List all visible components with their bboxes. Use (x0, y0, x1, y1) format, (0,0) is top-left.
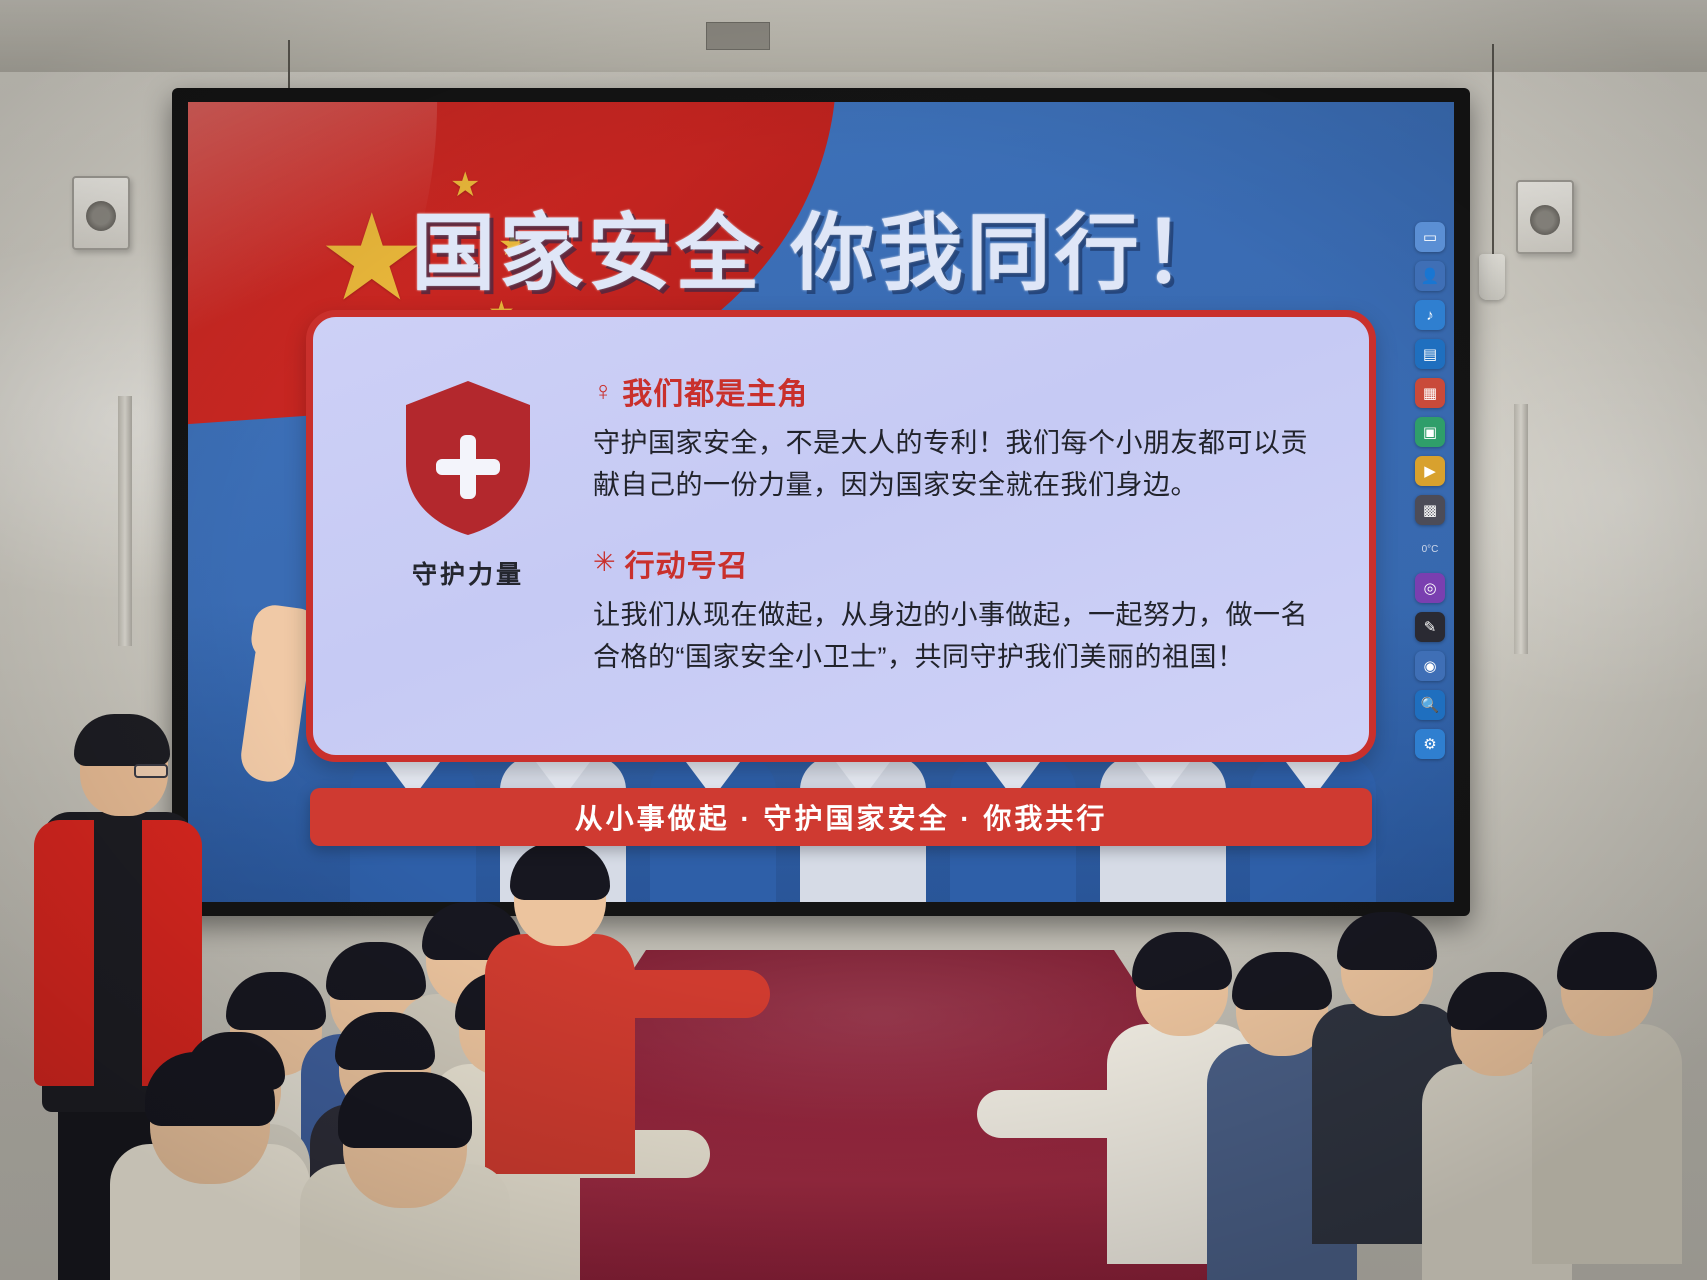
section-heading-1: ♀ 我们都是主角 (593, 369, 1329, 413)
ceiling-junction-box (706, 22, 770, 50)
search-icon[interactable]: 🔍 (1415, 690, 1445, 720)
section-body-2: 让我们从现在做起，从身边的小事做起，一起努力，做一名合格的“国家安全小卫士”，共… (593, 595, 1329, 679)
whiteboard-toolbar[interactable]: ▭ 👤 ♪ ▤ ▦ ▣ ▶ ▩ 0°C ◎ ✎ ◉ 🔍 ⚙ (1410, 222, 1450, 759)
image-icon[interactable]: ▣ (1415, 417, 1445, 447)
temperature-reading: 0°C (1415, 534, 1445, 564)
slide-footer-banner-text: 从小事做起 · 守护国家安全 · 你我共行 (575, 797, 1108, 837)
video-icon[interactable]: ▶ (1415, 456, 1445, 486)
browser-icon[interactable]: ◎ (1415, 573, 1445, 603)
section-heading-1-label: 我们都是主角 (622, 369, 808, 413)
section-body-1: 守护国家安全，不是大人的专利！我们每个小朋友都可以贡献自己的一份力量，因为国家安… (593, 423, 1329, 507)
display-icon[interactable]: ▭ (1415, 222, 1445, 252)
sparkle-star-icon: ✳ (593, 549, 617, 576)
shield-block: 守护力量 (353, 363, 583, 591)
wall-pipe-left (118, 396, 132, 646)
camera-icon[interactable]: ◉ (1415, 651, 1445, 681)
document-icon[interactable]: ▤ (1415, 339, 1445, 369)
grid-icon[interactable]: ▩ (1415, 495, 1445, 525)
apps-icon[interactable]: ▦ (1415, 378, 1445, 408)
brush-icon[interactable]: ✎ (1415, 612, 1445, 642)
card-text-column: ♀ 我们都是主角 守护国家安全，不是大人的专利！我们每个小朋友都可以贡献自己的一… (583, 363, 1329, 678)
content-card: 守护力量 ♀ 我们都是主角 守护国家安全，不是大人的专利！我们每个小朋友都可以贡… (306, 310, 1376, 762)
right-speaker (1516, 180, 1574, 254)
user-icon[interactable]: 👤 (1415, 261, 1445, 291)
ceiling-band (0, 0, 1707, 72)
child-audience-member-front (100, 1060, 320, 1280)
music-icon[interactable]: ♪ (1415, 300, 1445, 330)
section-spacer (593, 507, 1329, 541)
section-heading-2-label: 行动号召 (625, 541, 749, 585)
smartboard-frame: ★ ★ ★ ★ ★ (172, 88, 1470, 916)
right-pendant-lamp (1479, 254, 1505, 300)
shield-label: 守护力量 (412, 555, 524, 591)
lightbulb-icon: ♀ (593, 378, 614, 405)
smartboard-screen[interactable]: ★ ★ ★ ★ ★ (188, 102, 1454, 902)
child-audience-member (1517, 940, 1697, 1280)
section-heading-2: ✳ 行动号召 (593, 541, 1329, 585)
child-audience-member-front (290, 1080, 520, 1280)
settings-icon[interactable]: ⚙ (1415, 729, 1445, 759)
wall-pipe-right (1514, 404, 1528, 654)
left-speaker (72, 176, 130, 250)
shield-plus-icon (402, 379, 534, 537)
right-lamp-wire (1492, 44, 1494, 256)
slide-footer-banner: 从小事做起 · 守护国家安全 · 你我共行 (310, 788, 1372, 846)
cartoon-raised-arm (238, 629, 312, 785)
slide-title: 国家安全 你我同行！ (188, 186, 1454, 307)
